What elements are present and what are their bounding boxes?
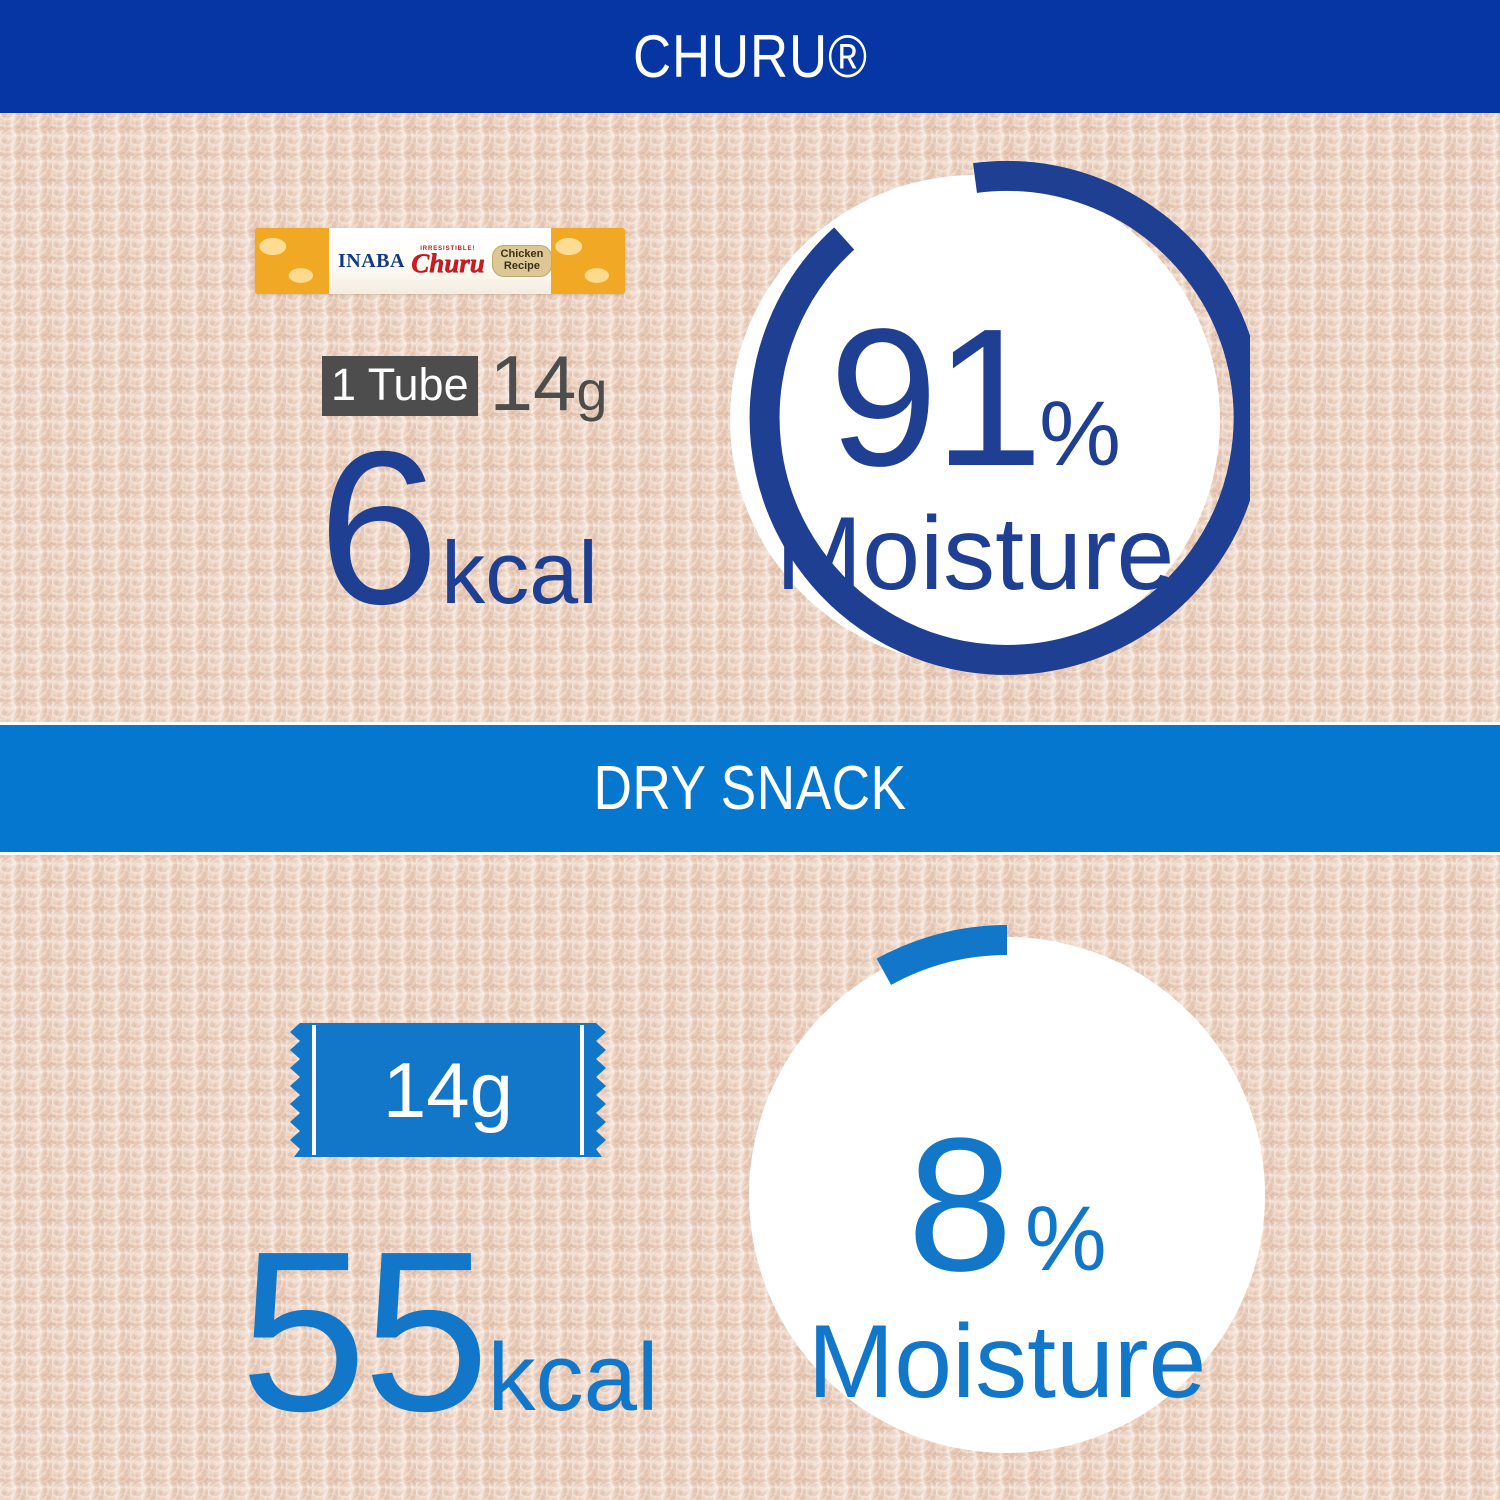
packet-body [290, 1023, 606, 1157]
tube-end-left [255, 228, 329, 294]
churu-calories: 6 kcal [318, 420, 598, 638]
churu-calories-value: 6 [318, 420, 439, 638]
dry-snack-calories-unit: kcal [488, 1330, 659, 1426]
churu-serving-weight: 14g [490, 344, 608, 422]
inaba-brand-logo: INABA [338, 250, 405, 273]
flavor-badge-line-2: Recipe [501, 261, 544, 273]
flavor-badge: Chicken Recipe [492, 245, 553, 276]
moisture-donut-chart-dry-snack: 8% Moisture [722, 910, 1292, 1480]
tube-end-right [551, 228, 625, 294]
tube-label-area: INABA IRRESISTIBLE! Churu Chicken Recipe [329, 228, 551, 294]
moisture-donut-svg-dry-snack [722, 910, 1292, 1480]
churu-calories-unit: kcal [441, 529, 598, 617]
churu-tube-image: INABA IRRESISTIBLE! Churu Chicken Recipe [255, 228, 625, 294]
dry-snack-banner-title: DRY SNACK [593, 758, 906, 820]
infographic-page: CHURU® INABA IRRESISTIBLE! Churu Chicken… [0, 0, 1500, 1500]
churu-serving-weight-value: 14 [490, 339, 577, 427]
churu-wordmark-group: IRRESISTIBLE! Churu [411, 246, 485, 277]
page-title: CHURU® [633, 27, 868, 87]
dry-snack-calories-value: 55 [240, 1218, 486, 1446]
churu-wordmark: Churu [411, 250, 485, 277]
churu-serving-row: 1 Tube 14g [322, 334, 608, 416]
donut-inner-fill-dry-snack [749, 937, 1265, 1453]
dry-snack-packet-image: 14g [282, 1023, 614, 1157]
header-band: CHURU® [0, 0, 1500, 113]
dry-snack-banner: DRY SNACK [0, 722, 1500, 855]
churu-serving-weight-unit: g [576, 359, 607, 422]
dry-snack-calories: 55 kcal [240, 1218, 658, 1446]
dry-snack-packet-svg [282, 1023, 614, 1157]
donut-inner-fill-churu [730, 175, 1220, 665]
moisture-donut-chart-churu: 91% Moisture [700, 145, 1250, 695]
moisture-donut-svg-churu [700, 145, 1250, 695]
